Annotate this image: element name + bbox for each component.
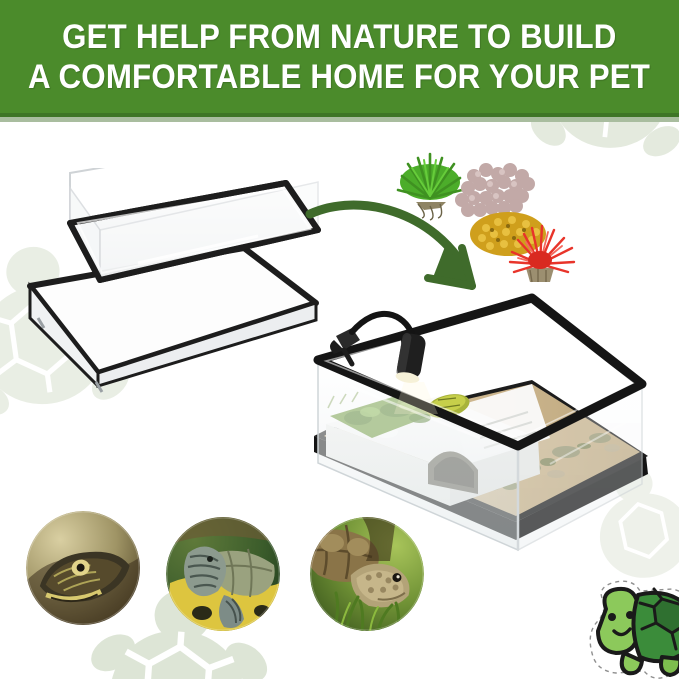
mascot-eye-left [608,613,616,621]
empty-tank-product [18,168,328,403]
photo-red-eared-slider-head [26,511,140,625]
header-banner: GET HELP FROM NATURE TO BUILD A COMFORTA… [0,0,679,113]
green-grass-plant-decoration [398,154,462,220]
photo-tortoise-in-grass [310,517,424,631]
banner-headline-line-2: A COMFORTABLE HOME FOR YOUR PET [28,57,650,97]
photo-map-turtle [166,517,280,631]
product-image-canvas: GET HELP FROM NATURE TO BUILD A COMFORTA… [0,0,679,679]
banner-headline-line-1: GET HELP FROM NATURE TO BUILD [62,17,616,57]
mascot-shell [633,589,679,661]
banner-accent-strip [0,117,679,122]
golden-coral-decoration [470,212,546,256]
tank-decorations-group [378,142,578,292]
empty-tank-lower-body [30,248,316,392]
cartoon-turtle-sticker [566,575,679,679]
mauve-pebble-cluster-decoration [455,163,535,217]
